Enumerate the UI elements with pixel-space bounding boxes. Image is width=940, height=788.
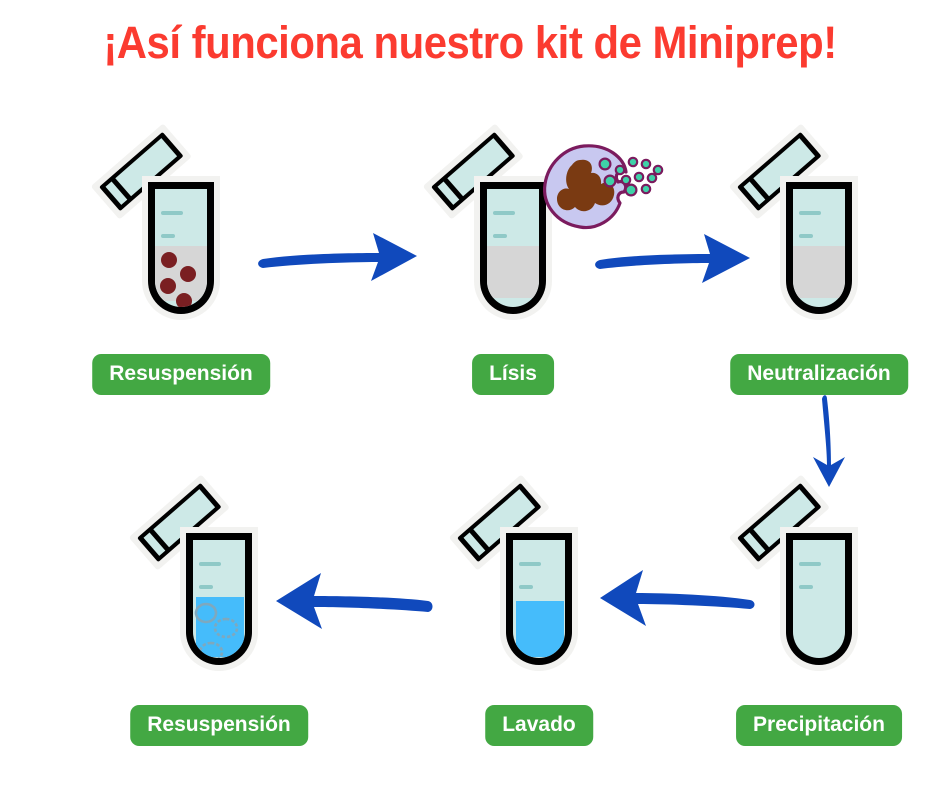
step-label-neutralizacion: Neutralización (730, 354, 908, 395)
step-label-resuspension-2: Resuspensión (130, 705, 308, 746)
graduation-tick-icon (493, 234, 507, 238)
graduation-tick-icon (199, 562, 221, 566)
graduation-tick-icon (199, 585, 213, 589)
tube-graphic-lisis (412, 122, 612, 342)
graduation-tick-icon (519, 585, 533, 589)
graduation-tick-icon (519, 562, 541, 566)
arrow-down-neutralizacion-to-precipitacion (805, 393, 855, 493)
graduation-tick-icon (799, 585, 813, 589)
arrow-right-lisis-to-neutralizacion (592, 228, 757, 293)
step-label-precipitacion: Precipitación (736, 705, 902, 746)
arrow-left-lavado-to-resuspension (270, 563, 435, 638)
graduation-tick-icon (161, 211, 183, 215)
step-label-lavado: Lavado (485, 705, 593, 746)
graduation-tick-icon (799, 234, 813, 238)
page-title: ¡Así funciona nuestro kit de Miniprep! (33, 18, 907, 68)
microcentrifuge-tube-icon (80, 122, 280, 342)
graduation-tick-icon (493, 211, 515, 215)
step-resuspension-1: Resuspensión (80, 122, 280, 342)
step-lisis: Lísis (412, 122, 612, 342)
arrow-right-resuspension-to-lisis (255, 225, 425, 290)
tube-graphic-resuspension-1 (80, 122, 280, 342)
graduation-tick-icon (161, 234, 175, 238)
graduation-tick-icon (799, 211, 821, 215)
arrow-left-precipitacion-to-lavado (598, 558, 758, 633)
graduation-tick-icon (799, 562, 821, 566)
step-label-resuspension-1: Resuspensión (92, 354, 270, 395)
lysed-cell-icon (534, 142, 664, 242)
step-label-lisis: Lísis (472, 354, 554, 395)
